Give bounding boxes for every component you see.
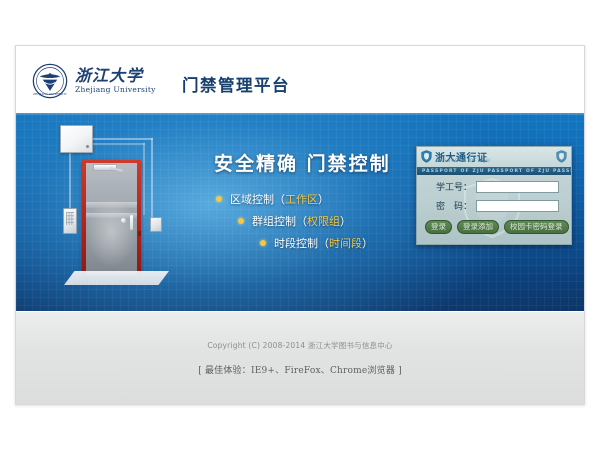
door-knob-icon	[121, 218, 126, 223]
userid-input[interactable]	[476, 181, 559, 193]
feature-suffix: ）	[318, 191, 329, 207]
list-item: 时段控制（ 时间段 ）	[260, 235, 373, 251]
login-add-button[interactable]: 登录添加	[457, 220, 499, 234]
university-name-en: Zhejiang University	[75, 86, 156, 94]
keypad-reader-icon	[63, 208, 77, 234]
login-button[interactable]: 登录	[425, 220, 452, 234]
feature-accent: 权限组	[307, 213, 340, 229]
bullet-dot-icon	[216, 196, 222, 202]
university-wordmark: 浙江大学 Zhejiang University	[75, 68, 156, 94]
bullet-dot-icon	[260, 240, 266, 246]
floor-slab	[64, 271, 169, 285]
door-leaf	[86, 163, 137, 275]
login-panel-header: 浙大通行证 PASSPORT OF ZJU	[417, 147, 571, 168]
banner-slogan: 安全精确 门禁控制	[214, 149, 391, 176]
wire-icon	[143, 143, 145, 215]
shield-icon	[556, 150, 567, 163]
card-sensor-icon	[150, 217, 162, 232]
password-input[interactable]	[476, 200, 559, 212]
login-button-group: 登录 登录添加 校园卡密码登录	[425, 220, 569, 234]
copyright-text: Copyright (C) 2008-2014 浙江大学图书与信息中心	[16, 340, 584, 351]
feature-accent: 时间段	[329, 235, 362, 251]
site-footer: Copyright (C) 2008-2014 浙江大学图书与信息中心 [ 最佳…	[16, 311, 584, 404]
login-panel-subtitle: PASSPORT OF ZJU	[436, 159, 491, 164]
controller-box-icon	[60, 125, 93, 153]
page-frame: ZHEJIANG UNIVERSITY 浙江大学 Zhejiang Univer…	[15, 45, 585, 405]
wire-icon	[151, 138, 153, 217]
feature-accent: 工作区	[285, 191, 318, 207]
bullet-dot-icon	[238, 218, 244, 224]
feature-suffix: ）	[362, 235, 373, 251]
door-band	[86, 202, 137, 208]
passport-watermark-strip: PASSPORT OF ZJU PASSPORT OF ZJU PASSPORT…	[417, 167, 571, 175]
login-panel: 浙大通行证 PASSPORT OF ZJU PASSPORT OF ZJU PA…	[416, 146, 572, 245]
campus-card-login-button[interactable]: 校园卡密码登录	[504, 220, 569, 234]
site-header: ZHEJIANG UNIVERSITY 浙江大学 Zhejiang Univer…	[16, 46, 584, 113]
shield-icon	[421, 150, 432, 163]
door-frame	[82, 160, 141, 275]
zju-crest-icon: ZHEJIANG UNIVERSITY	[32, 63, 68, 99]
wire-icon	[91, 143, 145, 145]
svg-text:ZHEJIANG UNIVERSITY: ZHEJIANG UNIVERSITY	[33, 92, 67, 96]
university-name-cn: 浙江大学	[75, 68, 156, 84]
feature-list: 区域控制（ 工作区 ） 群组控制（ 权限组 ） 时段控制（ 时间段 ）	[216, 191, 373, 257]
banner-top-highlight	[16, 113, 584, 115]
userid-label: 学工号：	[426, 180, 472, 193]
password-form-row: 密 码：	[426, 199, 559, 212]
page-title: 门禁管理平台	[182, 72, 290, 96]
passport-strip-text: PASSPORT OF ZJU PASSPORT OF ZJU PASSPORT…	[417, 169, 571, 174]
feature-label: 时段控制（	[274, 235, 329, 251]
feature-label: 区域控制（	[230, 191, 285, 207]
door-access-control-illustration	[42, 121, 182, 303]
keypad-grid-icon	[66, 212, 74, 225]
password-label: 密 码：	[426, 199, 472, 212]
door-lock-indicator	[138, 231, 141, 236]
controller-led-icon	[86, 145, 89, 148]
wire-icon	[69, 151, 71, 208]
wire-icon	[91, 138, 153, 140]
userid-form-row: 学工号：	[426, 180, 559, 193]
university-logo-block[interactable]: ZHEJIANG UNIVERSITY 浙江大学 Zhejiang Univer…	[32, 63, 156, 99]
feature-label: 群组控制（	[252, 213, 307, 229]
browser-support-text: [ 最佳体验：IE9+、FireFox、Chrome浏览器 ]	[16, 363, 584, 376]
list-item: 区域控制（ 工作区 ）	[216, 191, 373, 207]
list-item: 群组控制（ 权限组 ）	[238, 213, 373, 229]
feature-suffix: ）	[340, 213, 351, 229]
door-handle-icon	[130, 215, 133, 230]
hero-banner: 安全精确 门禁控制 区域控制（ 工作区 ） 群组控制（ 权限组 ） 时段控制（ …	[16, 113, 584, 311]
